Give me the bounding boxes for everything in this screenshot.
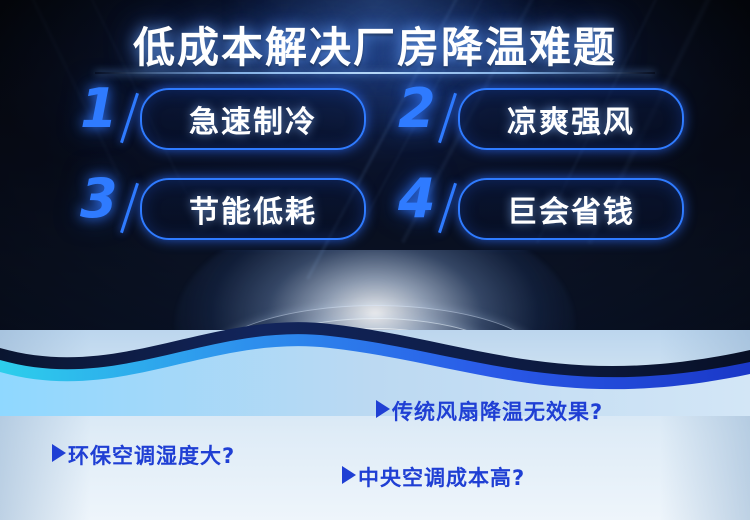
promo-poster: 低成本解决厂房降温难题 1 急速制冷 2 凉爽强风 3 节能低耗 4 <box>0 0 750 520</box>
feature-pill: 凉爽强风 <box>458 88 684 150</box>
feature-slash <box>120 183 139 233</box>
feature-item: 1 急速制冷 <box>80 88 365 150</box>
wave-divider <box>0 296 750 416</box>
feature-item: 4 巨会省钱 <box>398 178 683 240</box>
feature-number: 4 <box>398 172 436 226</box>
question-label-traditional-fan: 传统风扇降温无效果? <box>392 396 603 426</box>
feature-pill: 节能低耗 <box>140 178 366 240</box>
question-arrow-icon <box>52 444 66 462</box>
headline-title: 低成本解决厂房降温难题 <box>0 14 750 75</box>
feature-label: 凉爽强风 <box>507 97 635 141</box>
question-arrow-icon <box>376 400 390 418</box>
feature-list: 1 急速制冷 2 凉爽强风 3 节能低耗 4 巨会省钱 <box>80 88 680 248</box>
question-arrow-icon <box>342 466 356 484</box>
feature-number: 2 <box>398 82 436 136</box>
feature-slash <box>120 93 139 143</box>
feature-label: 巨会省钱 <box>507 187 635 231</box>
feature-label: 节能低耗 <box>189 187 317 231</box>
feature-pill: 巨会省钱 <box>458 178 684 240</box>
feature-item: 2 凉爽强风 <box>398 88 683 150</box>
feature-item: 3 节能低耗 <box>80 178 365 240</box>
feature-label: 急速制冷 <box>189 97 317 141</box>
question-label-central-ac: 中央空调成本高? <box>358 462 525 492</box>
feature-pill: 急速制冷 <box>140 88 366 150</box>
feature-slash <box>438 93 457 143</box>
question-label-eco-ac: 环保空调湿度大? <box>68 440 235 470</box>
feature-number: 3 <box>80 172 118 226</box>
feature-slash <box>438 183 457 233</box>
feature-number: 1 <box>80 82 118 136</box>
headline-underline <box>95 72 655 74</box>
